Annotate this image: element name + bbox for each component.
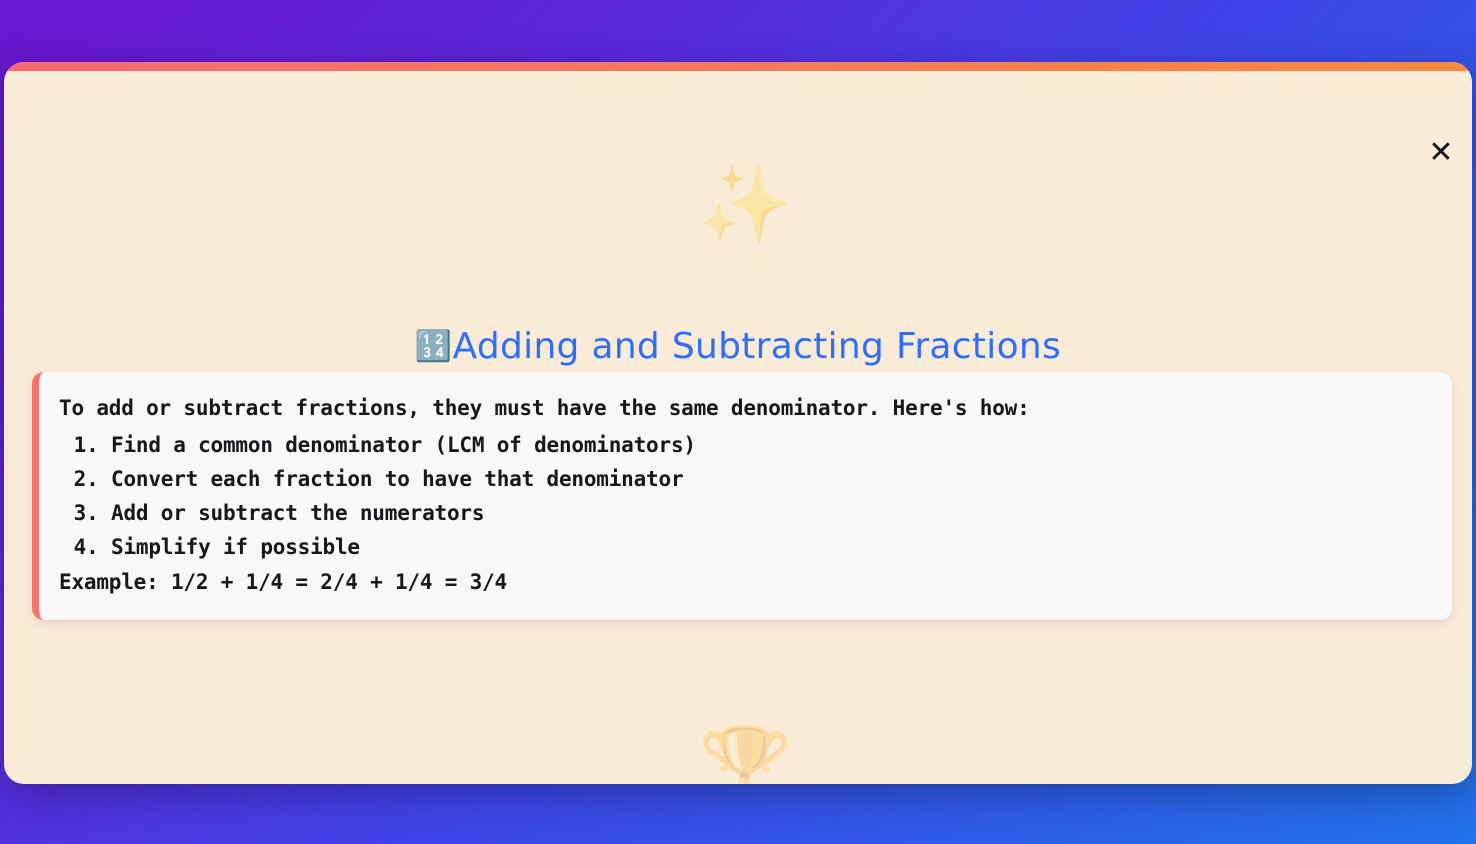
trophy-icon: 🏆	[698, 728, 793, 784]
calculator-icon: 🔢	[415, 329, 453, 364]
intro-text: To add or subtract fractions, they must …	[59, 396, 1426, 420]
steps-list: Find a common denominator (LCM of denomi…	[59, 428, 1426, 564]
example-text: Example: 1/2 + 1/4 = 2/4 + 1/4 = 3/4	[59, 570, 1426, 594]
list-item: Simplify if possible	[111, 530, 1426, 564]
list-item: Find a common denominator (LCM of denomi…	[111, 428, 1426, 462]
page-title-text: Adding and Subtracting Fractions	[453, 326, 1062, 367]
page-title: 🔢Adding and Subtracting Fractions	[4, 326, 1472, 367]
list-item: Add or subtract the numerators	[111, 496, 1426, 530]
modal-accent-bar	[4, 62, 1472, 71]
close-icon[interactable]: ✕	[1420, 132, 1462, 174]
sparkles-icon: ✨	[698, 166, 793, 242]
lesson-modal: ✕ ✨ 🔢Adding and Subtracting Fractions 🧮 …	[4, 62, 1472, 784]
list-item: Convert each fraction to have that denom…	[111, 462, 1426, 496]
lesson-content-card: To add or subtract fractions, they must …	[32, 372, 1452, 620]
